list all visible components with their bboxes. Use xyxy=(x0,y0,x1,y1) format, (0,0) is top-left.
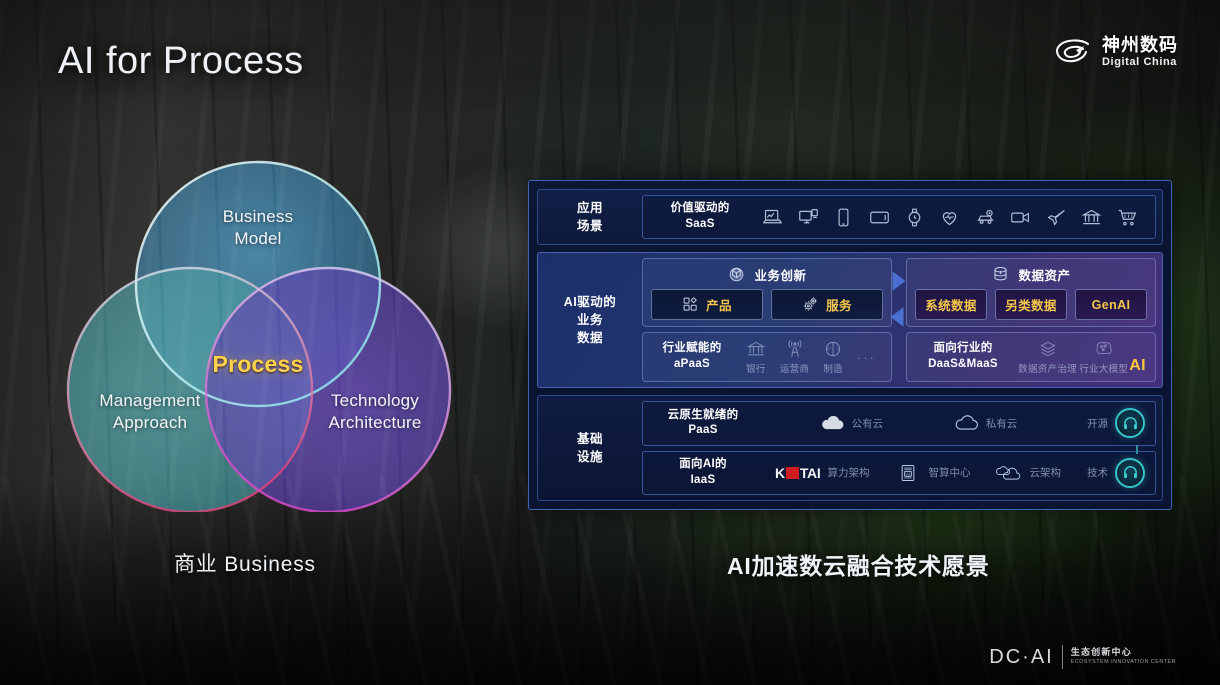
mini-item-industry-large-model[interactable]: 行业大模型 AI xyxy=(1079,339,1146,375)
business-innovation-panel: 业务创新 产品 服务 xyxy=(642,258,892,327)
business-innovation-column: 业务创新 产品 服务 xyxy=(642,258,899,382)
mini-item-operator-label: 运营商 xyxy=(780,361,809,375)
brain-network-icon xyxy=(1094,339,1114,359)
heartbeat-icon xyxy=(939,207,960,228)
airplane-icon xyxy=(1046,207,1067,228)
chip-product[interactable]: 产品 xyxy=(651,289,763,320)
mini-item-manufacturing[interactable]: 制造 xyxy=(823,339,843,375)
bank-icon xyxy=(1081,207,1102,228)
row-label-infrastructure: 基础 设施 xyxy=(538,396,642,500)
infra-item-public-cloud[interactable]: 公有云 xyxy=(819,413,884,433)
ai-server-icon: AI xyxy=(895,463,921,483)
paas-items: 公有云 私有云 xyxy=(749,413,1087,433)
vehicle-icon xyxy=(975,207,996,228)
video-camera-icon xyxy=(1010,207,1031,228)
manufacturing-gear-icon xyxy=(823,339,843,359)
mini-item-manufacturing-label: 制造 xyxy=(823,361,843,375)
daas-maas-panel: 面向行业的 DaaS&MaaS 数据资产治理 行业大模型 xyxy=(906,332,1156,382)
mini-item-data-governance[interactable]: 数据资产治理 xyxy=(1018,339,1077,375)
tag-industry-apaas: 行业赋能的 aPaaS xyxy=(651,341,733,372)
brand-logo: 神州数码 Digital China xyxy=(1053,36,1178,68)
desktop-monitor-icon xyxy=(798,207,819,228)
kuntai-logo-k: K xyxy=(775,465,785,481)
infra-item-ai-compute-center[interactable]: AI 智算中心 xyxy=(895,463,970,483)
chip-genai-label: GenAI xyxy=(1092,298,1131,312)
chip-system-data-label: 系统数据 xyxy=(925,295,977,314)
database-icon xyxy=(991,265,1010,284)
infra-line-paas: 云原生就绪的 PaaS 公有云 私有云 开源 xyxy=(642,401,1156,446)
slide-canvas: AI for Process 神州数码 Digital China xyxy=(0,0,1220,685)
venn-diagram: Business Model Management Approach Techn… xyxy=(62,152,454,512)
footer-divider xyxy=(1062,645,1063,669)
footer-center-en: ECOSYSTEM INNOVATION CENTER xyxy=(1071,660,1176,666)
swirl-logo-icon xyxy=(1053,37,1093,67)
chip-alternative-data[interactable]: 另类数据 xyxy=(995,289,1067,320)
chip-service[interactable]: 服务 xyxy=(771,289,883,320)
footer-logo: DC·AI 生态创新中心 ECOSYSTEM INNOVATION CENTER xyxy=(989,645,1176,669)
headset-icon xyxy=(1122,415,1139,432)
bank-icon xyxy=(746,339,766,359)
layered-data-icon xyxy=(1038,339,1058,359)
kuntai-logo-icon: K TAI xyxy=(775,465,820,481)
brand-name-cn: 神州数码 xyxy=(1102,36,1178,54)
data-asset-title: 数据资产 xyxy=(1018,265,1070,284)
infra-item-compute-architecture[interactable]: K TAI 算力架构 xyxy=(775,465,869,481)
tablet-icon xyxy=(869,207,890,228)
business-innovation-chips: 产品 服务 xyxy=(651,289,883,320)
application-icon-set xyxy=(743,207,1145,228)
mini-item-data-governance-label: 数据资产治理 xyxy=(1018,361,1077,375)
business-innovation-header: 业务创新 xyxy=(651,265,883,284)
infra-item-cloud-architecture-label: 云架构 xyxy=(1029,465,1061,480)
svg-text:AI: AI xyxy=(907,471,911,476)
data-columns: 业务创新 产品 服务 xyxy=(642,258,1156,382)
apaas-more-ellipsis: ··· xyxy=(857,350,876,365)
smartwatch-icon xyxy=(904,207,925,228)
blocks-icon xyxy=(682,296,699,313)
chip-alternative-data-label: 另类数据 xyxy=(1005,295,1057,314)
cube-cluster-icon xyxy=(727,265,746,284)
signal-tower-icon xyxy=(785,339,805,359)
cloud-filled-icon xyxy=(819,413,845,433)
gears-icon xyxy=(802,296,819,313)
venn-circles xyxy=(62,152,454,512)
caption-business: 商业 Business xyxy=(174,548,316,578)
badge-open-source-circle xyxy=(1115,408,1145,438)
headset-icon xyxy=(1122,464,1139,481)
mini-item-operator[interactable]: 运营商 xyxy=(780,339,809,375)
chip-service-label: 服务 xyxy=(826,295,852,314)
infra-item-compute-architecture-label: 算力架构 xyxy=(827,465,869,480)
footer-center-cn: 生态创新中心 xyxy=(1071,648,1176,658)
arch-row-application-scenarios: 应用 场景 价值驱动的 SaaS xyxy=(537,189,1163,245)
page-title: AI for Process xyxy=(58,40,304,83)
infra-item-public-cloud-label: 公有云 xyxy=(852,416,884,431)
iaas-items: K TAI 算力架构 AI 智算中心 云架构 xyxy=(749,463,1087,483)
infra-item-private-cloud-label: 私有云 xyxy=(986,416,1018,431)
apaas-industry-items: 银行 运营商 制造 ··· xyxy=(733,339,883,375)
badge-open-source-label: 开源 xyxy=(1087,416,1108,431)
badge-technology-circle xyxy=(1115,458,1145,488)
architecture-panel: 应用 场景 价值驱动的 SaaS xyxy=(528,180,1172,510)
industry-model-ai-suffix: AI xyxy=(1129,357,1146,375)
tag-cloud-native-paas: 云原生就绪的 PaaS xyxy=(657,408,749,439)
data-asset-column: 数据资产 系统数据 另类数据 GenAI xyxy=(899,258,1156,382)
chip-system-data[interactable]: 系统数据 xyxy=(915,289,987,320)
data-asset-panel: 数据资产 系统数据 另类数据 GenAI xyxy=(906,258,1156,327)
caption-tech-vision: AI加速数云融合技术愿景 xyxy=(727,547,990,581)
brand-name-en: Digital China xyxy=(1102,57,1178,68)
tag-ai-oriented-iaas: 面向AI的 IaaS xyxy=(657,457,749,488)
tag-industry-daas-maas: 面向行业的 DaaS&MaaS xyxy=(915,341,1011,372)
mini-item-bank[interactable]: 银行 xyxy=(746,339,766,375)
badge-connector-line xyxy=(1136,445,1138,454)
infra-item-ai-compute-center-label: 智算中心 xyxy=(928,465,970,480)
row-label-ai-driven-business-data: AI驱动的 业务 数据 xyxy=(538,253,642,387)
badge-open-source[interactable]: 开源 xyxy=(1087,408,1149,438)
row-label-application-scenarios: 应用 场景 xyxy=(538,190,642,244)
cloud-outline-icon xyxy=(953,413,979,433)
application-scenarios-strip: 价值驱动的 SaaS xyxy=(642,195,1156,239)
multi-cloud-icon xyxy=(996,463,1022,483)
laptop-chart-icon xyxy=(762,207,783,228)
kuntai-logo-block xyxy=(786,467,799,479)
mini-item-industry-large-model-label: 行业大模型 xyxy=(1079,361,1128,375)
infra-item-private-cloud[interactable]: 私有云 xyxy=(953,413,1018,433)
chip-genai[interactable]: GenAI xyxy=(1075,289,1147,320)
arch-row-infrastructure: 基础 设施 云原生就绪的 PaaS 公有云 私有云 xyxy=(537,395,1163,501)
daas-maas-items: 数据资产治理 行业大模型 AI xyxy=(1011,339,1147,375)
kuntai-logo-tai: TAI xyxy=(800,465,821,481)
infra-line-iaas: 面向AI的 IaaS K TAI 算力架构 AI 智算中心 xyxy=(642,451,1156,496)
arch-row-ai-driven-business-data: AI驱动的 业务 数据 业务创新 xyxy=(537,252,1163,388)
data-asset-chips: 系统数据 另类数据 GenAI xyxy=(915,289,1147,320)
business-innovation-title: 业务创新 xyxy=(754,265,806,284)
apaas-panel: 行业赋能的 aPaaS 银行 运营商 xyxy=(642,332,892,382)
badge-technology[interactable]: 技术 xyxy=(1087,458,1149,488)
infra-item-cloud-architecture[interactable]: 云架构 xyxy=(996,463,1061,483)
footer-dcai-text: DC·AI xyxy=(989,646,1053,669)
mini-item-bank-label: 银行 xyxy=(746,361,766,375)
badge-technology-label: 技术 xyxy=(1087,465,1108,480)
data-asset-header: 数据资产 xyxy=(915,265,1147,284)
shopping-cart-icon xyxy=(1117,207,1138,228)
smartphone-icon xyxy=(833,207,854,228)
tag-value-driven-saas: 价值驱动的 SaaS xyxy=(657,201,743,232)
chip-product-label: 产品 xyxy=(706,295,732,314)
